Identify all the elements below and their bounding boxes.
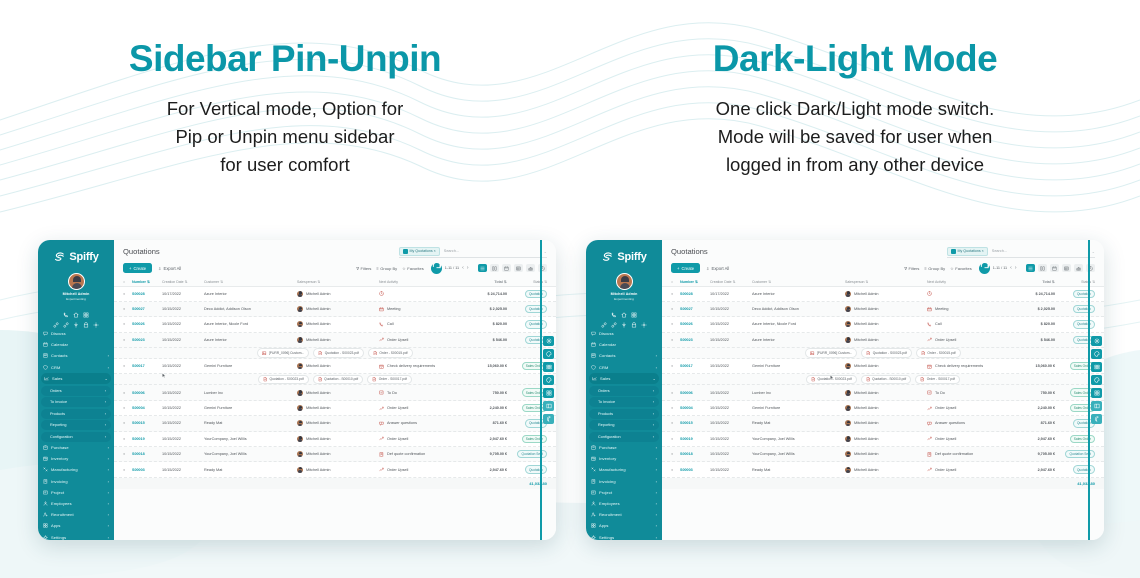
panel-edge-accent	[1088, 240, 1090, 540]
cell-number[interactable]: S00028	[680, 292, 710, 296]
refresh-button[interactable]	[979, 263, 990, 274]
attachment-chip[interactable]: Order - S00015.pdf	[916, 348, 961, 358]
home-icon[interactable]	[621, 305, 627, 311]
cell-creation-date: 10/15/2022	[710, 322, 752, 326]
link-alt-icon[interactable]	[63, 315, 69, 321]
row-checkbox[interactable]: ○	[671, 406, 680, 410]
table-row[interactable]: ○S0001510/15/2022Ready MatMitchell Admin…	[114, 416, 556, 431]
activity-view-icon[interactable]	[1086, 264, 1096, 272]
settings-rail-icon[interactable]	[543, 336, 554, 346]
pin-icon[interactable]	[73, 315, 79, 321]
row-checkbox[interactable]: ○	[123, 322, 132, 326]
layout-rail-icon[interactable]	[543, 362, 554, 372]
cell-number[interactable]: S00027	[680, 307, 710, 311]
sidebar-item-apps[interactable]: Apps›	[586, 520, 662, 531]
cell-number[interactable]: S00019	[132, 437, 162, 441]
cell-customer: Ready Mat	[752, 421, 845, 425]
sidebar-subitem-label: Reporting	[598, 423, 653, 427]
cell-next-activity[interactable]	[927, 291, 1009, 296]
avatar	[297, 405, 303, 411]
chevron-down-icon[interactable]: ⌄	[1092, 249, 1095, 254]
cell-number[interactable]: S00015	[680, 421, 710, 425]
cell-number[interactable]: S00015	[132, 421, 162, 425]
image-icon	[810, 351, 815, 356]
sidebar-item-discuss[interactable]: Discuss	[586, 328, 662, 339]
cell-number[interactable]: S00023	[132, 338, 162, 342]
filters-button[interactable]: ∇Filters	[904, 266, 919, 271]
sidebar-item-contacts[interactable]: Contacts›	[38, 350, 114, 361]
apps-rail-icon[interactable]	[543, 388, 554, 398]
cell-number[interactable]: S00028	[132, 292, 162, 296]
discuss-icon	[591, 331, 596, 336]
grid-icon[interactable]	[83, 305, 89, 311]
cell-salesperson: Mitchell Admin	[845, 291, 927, 297]
chevron-right-icon: ›	[656, 501, 657, 506]
settings-icon[interactable]	[641, 315, 647, 321]
attachment-chip[interactable]: Order - S00017.pdf	[915, 375, 960, 385]
sidebar-item-employees[interactable]: Employees›	[586, 498, 662, 509]
favorites-button[interactable]: ☆Favorites	[402, 266, 424, 271]
cell-next-activity[interactable]: Order Upsell	[927, 436, 1009, 441]
sidebar-item-project[interactable]: Project›	[38, 487, 114, 498]
sidebar-item-recruitment[interactable]: Recruitment›	[586, 509, 662, 520]
grid-icon[interactable]	[631, 305, 637, 311]
column-header-creation-date[interactable]: Creation Date ⇅	[710, 280, 752, 284]
spiral-s-logo-icon	[601, 251, 614, 264]
sidebar-item-crm[interactable]: CRM›	[586, 362, 662, 373]
column-header-number[interactable]: Number ⇅	[132, 280, 162, 284]
sidebar-rail-icon[interactable]	[1091, 401, 1102, 411]
sidebar-subitem-products[interactable]: Products›	[41, 409, 111, 419]
select-all-checkbox[interactable]: ○	[671, 280, 680, 284]
cell-number[interactable]: S00004	[680, 406, 710, 410]
group-by-button[interactable]: ≡Group By	[376, 266, 397, 271]
sidebar-item-project[interactable]: Project›	[586, 487, 662, 498]
sidebar-subitem-configuration[interactable]: Configuration›	[589, 432, 659, 442]
cell-salesperson: Mitchell Admin	[297, 405, 379, 411]
star-icon: ☆	[950, 266, 954, 271]
layout-rail-icon[interactable]	[1091, 362, 1102, 372]
column-header-next-activity[interactable]: Next Activity	[927, 280, 1009, 284]
sidebar-item-manufacturing[interactable]: Manufacturing›	[586, 464, 662, 475]
row-checkbox[interactable]: ○	[671, 338, 680, 342]
upsell-icon	[379, 467, 384, 472]
table-row[interactable]: ○S0000310/15/2022Ready MatMitchell Admin…	[114, 462, 556, 477]
row-checkbox[interactable]: ○	[671, 292, 680, 296]
cell-creation-date: 10/15/2022	[162, 307, 204, 311]
list-view-icon[interactable]	[1026, 264, 1036, 272]
row-checkbox[interactable]: ○	[123, 307, 132, 311]
cell-customer: Azure Interior	[752, 338, 845, 342]
cell-next-activity[interactable]: Call	[927, 322, 1009, 327]
cell-salesperson: Mitchell Admin	[845, 363, 927, 369]
sidebar-item-manufacturing[interactable]: Manufacturing›	[38, 464, 114, 475]
sidebar-item-contacts[interactable]: Contacts›	[586, 350, 662, 361]
sidebar-item-label: Recruitment	[599, 512, 653, 517]
table-row[interactable]: ○S0000310/15/2022Ready MatMitchell Admin…	[662, 462, 1104, 477]
table-row[interactable]: ○S0002810/17/2022Azure InteriorMitchell …	[662, 287, 1104, 302]
floating-settings-rail	[543, 336, 554, 424]
row-checkbox[interactable]: ○	[671, 307, 680, 311]
heading-column-right: Dark-Light Mode One click Dark/Light mod…	[570, 38, 1140, 179]
meeting-icon	[927, 307, 932, 312]
cell-customer: YourCompany, Joel Willis	[752, 437, 845, 441]
cell-next-activity[interactable]: Order Upsell	[927, 337, 1009, 342]
cell-creation-date: 10/15/2022	[710, 437, 752, 441]
attachment-chip[interactable]: Quotation - S00023.pdf	[258, 375, 309, 385]
cell-next-activity[interactable]: To Do	[927, 390, 1009, 395]
sidebar-item-apps[interactable]: Apps›	[38, 520, 114, 531]
sidebar-item-purchase[interactable]: Purchase›	[38, 442, 114, 453]
filters-button[interactable]: ∇Filters	[356, 266, 371, 271]
attachment-chip[interactable]: Quotation - S00010.pdf	[313, 375, 364, 385]
row-checkbox[interactable]: ○	[671, 468, 680, 472]
chevron-right-icon: ›	[108, 512, 109, 517]
cell-next-activity[interactable]: Call	[379, 322, 461, 327]
row-checkbox[interactable]: ○	[123, 391, 132, 395]
refresh-button[interactable]	[431, 263, 442, 274]
cell-customer: Azure Interior, Nicole Ford	[752, 322, 845, 326]
calendar-view-icon[interactable]	[502, 264, 512, 272]
app-screenshot-left[interactable]: SpiffyMitchell AdminExperimentingDiscuss…	[38, 240, 556, 540]
clock-icon	[927, 291, 932, 296]
chevron-right-icon: ›	[656, 490, 657, 495]
cell-next-activity[interactable]: Order Upsell	[379, 337, 461, 342]
attachment-chip[interactable]: Quotation - S00023.pdf	[861, 348, 912, 358]
sidebar-subitem-to-invoice[interactable]: To Invoice›	[41, 397, 111, 407]
row-checkbox[interactable]: ○	[671, 391, 680, 395]
table-row[interactable]: ○S0001910/15/2022YourCompany, Joel Willi…	[114, 432, 556, 447]
app-sidebar: SpiffyMitchell AdminExperimentingDiscuss…	[38, 240, 114, 540]
contacts-icon	[591, 353, 596, 358]
avatar	[297, 451, 303, 457]
avatar	[845, 420, 851, 426]
table-row[interactable]: ○S0001810/15/2022YourCompany, Joel Willi…	[662, 447, 1104, 462]
settings-rail-icon[interactable]	[1091, 336, 1102, 346]
favorites-button[interactable]: ☆Favorites	[950, 266, 972, 271]
row-checkbox[interactable]: ○	[671, 421, 680, 425]
table-row[interactable]: ○S0002710/15/2022Deco Addict, Addison Ol…	[662, 302, 1104, 317]
cell-number[interactable]: S00006	[680, 391, 710, 395]
cell-customer: Lumber Inc	[752, 391, 845, 395]
row-checkbox[interactable]: ○	[671, 437, 680, 441]
column-header-salesperson[interactable]: Salesperson ⇅	[845, 280, 927, 284]
cell-number[interactable]: S00004	[132, 406, 162, 410]
cell-next-activity[interactable]: Order Upsell	[927, 467, 1009, 472]
sidebar-item-invoicing[interactable]: Invoicing›	[586, 475, 662, 486]
export-icon: ⇩	[158, 266, 162, 271]
cell-next-activity[interactable]: To Do	[379, 390, 461, 395]
table-row[interactable]: ○S0002310/15/2022Azure InteriorMitchell …	[114, 333, 556, 348]
groupby-icon: ≡	[376, 266, 378, 271]
row-checkbox[interactable]: ○	[123, 468, 132, 472]
sidebar-subitem-orders[interactable]: Orders›	[41, 386, 111, 396]
cell-number[interactable]: S00023	[680, 338, 710, 342]
column-header-total[interactable]: Total ⇅	[461, 280, 507, 284]
cell-total: $ 24,714.00	[1009, 292, 1055, 296]
search-facet-my-quotations[interactable]: My Quotations ×	[947, 247, 988, 256]
list-view-icon[interactable]	[478, 264, 488, 272]
row-checkbox[interactable]: ○	[123, 338, 132, 342]
cell-next-activity[interactable]: Order Upsell	[379, 436, 461, 441]
row-checkbox[interactable]: ○	[123, 421, 132, 425]
sidebar-item-inventory[interactable]: Inventory›	[38, 453, 114, 464]
cell-number[interactable]: S00003	[132, 468, 162, 472]
brand-logo-block[interactable]: Spiffy	[38, 247, 114, 267]
table-row[interactable]: ○S0001710/15/2022Gemini FurnitureMitchel…	[114, 359, 556, 374]
cell-next-activity[interactable]: Check delivery requirements	[379, 364, 461, 369]
cell-next-activity[interactable]: Order Upsell	[379, 406, 461, 411]
sidebar-item-inventory[interactable]: Inventory›	[586, 453, 662, 464]
attachment-chip[interactable]: Quotation - S00010.pdf	[861, 375, 912, 385]
activity-view-icon[interactable]	[538, 264, 548, 272]
cell-next-activity[interactable]: Order Upsell	[379, 467, 461, 472]
link-icon[interactable]	[53, 315, 59, 321]
chevron-right-icon: ›	[653, 389, 654, 393]
sidebar-item-settings[interactable]: Settings›	[38, 531, 114, 540]
table-row[interactable]: ○S0002710/15/2022Deco Addict, Addison Ol…	[114, 302, 556, 317]
calendar-view-icon[interactable]	[1050, 264, 1060, 272]
sidebar-item-recruitment[interactable]: Recruitment›	[38, 509, 114, 520]
theme-rail-icon[interactable]	[543, 349, 554, 359]
pager-prev-button[interactable]: ‹	[462, 265, 464, 271]
apps-rail-icon[interactable]	[1091, 388, 1102, 398]
export-all-button[interactable]: ⇩Export All	[158, 266, 181, 271]
sidebar-item-employees[interactable]: Employees›	[38, 498, 114, 509]
row-checkbox[interactable]: ○	[671, 322, 680, 326]
pivot-view-icon[interactable]	[514, 264, 524, 272]
select-all-checkbox[interactable]: ○	[123, 280, 132, 284]
table-row[interactable]: ○S0002610/15/2022Azure Interior, Nicole …	[662, 317, 1104, 332]
sidebar-subitem-label: Orders	[50, 389, 105, 393]
sidebar-item-label: CRM	[51, 365, 105, 370]
sidebar-item-sales[interactable]: Sales⌄	[41, 373, 111, 384]
table-row[interactable]: ○S0000610/15/2022Lumber IncMitchell Admi…	[114, 385, 556, 400]
row-checkbox[interactable]: ○	[671, 364, 680, 368]
sidebar-subitem-label: To Invoice	[598, 400, 653, 404]
sidebar-subitem-orders[interactable]: Orders›	[589, 386, 659, 396]
cell-salesperson: Mitchell Admin	[297, 451, 379, 457]
avatar[interactable]	[616, 273, 633, 290]
column-header-customer[interactable]: Customer ⇅	[752, 280, 845, 284]
row-checkbox[interactable]: ○	[123, 452, 132, 456]
cell-number[interactable]: S00003	[680, 468, 710, 472]
table-row[interactable]: ○S0001910/15/2022YourCompany, Joel Willi…	[662, 432, 1104, 447]
brand-logo-block[interactable]: Spiffy	[586, 247, 662, 267]
control-panel: QuotationsMy Quotations ×Search...⌄+Crea…	[114, 240, 556, 274]
attachment-chip[interactable]: [PURR_0096] Custom...	[257, 348, 309, 358]
sidebar-item-calendar[interactable]: Calendar	[586, 339, 662, 350]
sidebar-subitem-products[interactable]: Products›	[589, 409, 659, 419]
table-row[interactable]: ○S0000410/15/2022Gemini FurnitureMitchel…	[662, 401, 1104, 416]
filter-icon	[403, 249, 408, 254]
column-header-next-activity[interactable]: Next Activity	[379, 280, 461, 284]
cell-salesperson: Mitchell Admin	[845, 467, 927, 473]
kanban-view-icon[interactable]	[490, 264, 500, 272]
sidebar-item-invoicing[interactable]: Invoicing›	[38, 475, 114, 486]
attachment-chip[interactable]: Quotation - S00023.pdf	[313, 348, 364, 358]
graph-view-icon[interactable]	[1074, 264, 1084, 272]
row-checkbox[interactable]: ○	[123, 292, 132, 296]
table-row[interactable]: ○S0002610/15/2022Azure Interior, Nicole …	[114, 317, 556, 332]
create-button[interactable]: +Create	[671, 263, 700, 273]
sidebar-item-label: CRM	[599, 365, 653, 370]
table-row[interactable]: ○S0001810/15/2022YourCompany, Joel Willi…	[114, 447, 556, 462]
lock-icon[interactable]	[83, 315, 89, 321]
sidebar-item-settings[interactable]: Settings›	[586, 531, 662, 540]
table-row[interactable]: ○S0000610/15/2022Lumber IncMitchell Admi…	[662, 385, 1104, 400]
table-row[interactable]: ○S0002810/17/2022Azure InteriorMitchell …	[114, 287, 556, 302]
chevron-down-icon[interactable]: ⌄	[544, 249, 547, 254]
view-switcher	[1026, 264, 1096, 272]
cell-number[interactable]: S00027	[132, 307, 162, 311]
cell-customer: Gemini Furniture	[752, 364, 845, 368]
attachment-chip[interactable]: Order - S00015.pdf	[368, 348, 413, 358]
sidebar-subitem-configuration[interactable]: Configuration›	[41, 432, 111, 442]
avatar	[297, 390, 303, 396]
chevron-right-icon: ›	[108, 535, 109, 540]
sidebar-item-label: Invoicing	[599, 479, 653, 484]
sidebar-item-label: Discuss	[599, 331, 657, 336]
palette-rail-icon[interactable]	[1091, 375, 1102, 385]
home-icon[interactable]	[73, 305, 79, 311]
avatar[interactable]	[68, 273, 85, 290]
cell-number[interactable]: S00018	[132, 452, 162, 456]
panel-edge-accent	[540, 240, 542, 540]
sidebar-item-purchase[interactable]: Purchase›	[586, 442, 662, 453]
cell-total: 2,240.00 €	[1009, 406, 1055, 410]
phone-icon[interactable]	[611, 305, 617, 311]
sidebar-subitem-to-invoice[interactable]: To Invoice›	[589, 397, 659, 407]
upsell-icon	[927, 467, 932, 472]
link-icon[interactable]	[601, 315, 607, 321]
cell-next-activity[interactable]: Def quote confirmation	[927, 452, 1009, 457]
cell-number[interactable]: S00026	[132, 322, 162, 326]
cell-next-activity[interactable]: Answer questions	[379, 421, 461, 426]
palette-rail-icon[interactable]	[543, 375, 554, 385]
discuss-icon	[43, 331, 48, 336]
cell-number[interactable]: S00017	[680, 364, 710, 368]
cell-salesperson: Mitchell Admin	[297, 467, 379, 473]
export-icon: ⇩	[706, 266, 710, 271]
sidebar-subitem-label: Products	[50, 412, 105, 416]
pager-next-button[interactable]: ›	[467, 265, 469, 271]
export-all-button[interactable]: ⇩Export All	[706, 266, 729, 271]
darkmode-rail-icon[interactable]	[543, 414, 554, 424]
sidebar-item-discuss[interactable]: Discuss	[38, 328, 114, 339]
cell-next-activity[interactable]: Def quote confirmation	[379, 452, 461, 457]
theme-rail-icon[interactable]	[1091, 349, 1102, 359]
app-screenshot-right[interactable]: SpiffyMitchell AdminExperimentingDiscuss…	[586, 240, 1104, 540]
chevron-right-icon: ›	[656, 479, 657, 484]
groupby-icon: ≡	[924, 266, 926, 271]
attachment-row: Quotation - S00023.pdfQuotation - S00010…	[114, 374, 556, 385]
cell-next-activity[interactable]: Answer questions	[927, 421, 1009, 426]
create-button[interactable]: +Create	[123, 263, 152, 273]
pager-prev-button[interactable]: ‹	[1010, 265, 1012, 271]
cell-customer: YourCompany, Joel Willis	[204, 452, 297, 456]
sidebar-item-crm[interactable]: CRM›	[38, 362, 114, 373]
pin-icon[interactable]	[621, 315, 627, 321]
phone-icon[interactable]	[63, 305, 69, 311]
question-icon	[927, 421, 932, 426]
search-input[interactable]: Search...	[992, 249, 1044, 253]
cell-next-activity[interactable]	[379, 291, 461, 296]
sidebar-item-label: Invoicing	[51, 479, 105, 484]
settings-gear-icon	[43, 535, 48, 540]
cell-number[interactable]: S00019	[680, 437, 710, 441]
pivot-view-icon[interactable]	[1062, 264, 1072, 272]
pager-next-button[interactable]: ›	[1015, 265, 1017, 271]
cell-number[interactable]: S00018	[680, 452, 710, 456]
search-facet-my-quotations[interactable]: My Quotations ×	[399, 247, 440, 256]
cell-next-activity[interactable]: Meeting	[927, 307, 1009, 312]
chevron-right-icon: ›	[653, 400, 654, 404]
column-header-creation-date[interactable]: Creation Date ⇅	[162, 280, 204, 284]
settings-icon[interactable]	[93, 315, 99, 321]
call-icon	[927, 322, 932, 327]
row-checkbox[interactable]: ○	[123, 437, 132, 441]
cell-total: 15,060.00 €	[1009, 364, 1055, 368]
sidebar-item-sales[interactable]: Sales⌄	[589, 373, 659, 384]
lock-icon[interactable]	[631, 315, 637, 321]
user-name: Mitchell Admin	[586, 292, 662, 296]
table-row[interactable]: ○S0001710/15/2022Gemini FurnitureMitchel…	[662, 359, 1104, 374]
avatar	[845, 436, 851, 442]
cell-next-activity[interactable]: Order Upsell	[927, 406, 1009, 411]
search-input[interactable]: Search...	[444, 249, 496, 253]
column-header-customer[interactable]: Customer ⇅	[204, 280, 297, 284]
attachment-chip[interactable]: Order - S00017.pdf	[367, 375, 412, 385]
cell-total: 2,947.60 €	[461, 468, 507, 472]
cell-creation-date: 10/17/2022	[710, 292, 752, 296]
cell-total: $ 2,025.00	[461, 307, 507, 311]
table-row[interactable]: ○S0001510/15/2022Ready MatMitchell Admin…	[662, 416, 1104, 431]
pdf-icon	[373, 351, 378, 356]
table-row[interactable]: ○S0002310/15/2022Azure InteriorMitchell …	[662, 333, 1104, 348]
row-checkbox[interactable]: ○	[123, 406, 132, 410]
column-header-total[interactable]: Total ⇅	[1009, 280, 1055, 284]
sidebar-item-label: Sales	[600, 376, 650, 381]
subtitle-line: logged in from any other device	[570, 151, 1140, 179]
sidebar-item-label: Purchase	[51, 445, 105, 450]
cell-number[interactable]: S00006	[132, 391, 162, 395]
row-checkbox[interactable]: ○	[123, 364, 132, 368]
sidebar-item-calendar[interactable]: Calendar	[38, 339, 114, 350]
darkmode-rail-icon[interactable]	[1091, 414, 1102, 424]
graph-view-icon[interactable]	[526, 264, 536, 272]
cell-next-activity[interactable]: Check delivery requirements	[927, 364, 1009, 369]
cell-total: 2,240.00 €	[461, 406, 507, 410]
column-header-salesperson[interactable]: Salesperson ⇅	[297, 280, 379, 284]
attachment-chip[interactable]: [PURR_0096] Custom...	[805, 348, 857, 358]
chevron-down-icon: ⌄	[105, 376, 108, 381]
table-row[interactable]: ○S0000410/15/2022Gemini FurnitureMitchel…	[114, 401, 556, 416]
sidebar-item-label: Calendar	[599, 342, 657, 347]
cell-number[interactable]: S00017	[132, 364, 162, 368]
sidebar-rail-icon[interactable]	[543, 401, 554, 411]
cell-number[interactable]: S00026	[680, 322, 710, 326]
group-by-button[interactable]: ≡Group By	[924, 266, 945, 271]
sidebar-subitem-reporting[interactable]: Reporting›	[41, 420, 111, 430]
kanban-view-icon[interactable]	[1038, 264, 1048, 272]
cell-next-activity[interactable]: Meeting	[379, 307, 461, 312]
row-checkbox[interactable]: ○	[671, 452, 680, 456]
link-alt-icon[interactable]	[611, 315, 617, 321]
sidebar-subitem-reporting[interactable]: Reporting›	[589, 420, 659, 430]
avatar	[297, 467, 303, 473]
column-header-number[interactable]: Number ⇅	[680, 280, 710, 284]
